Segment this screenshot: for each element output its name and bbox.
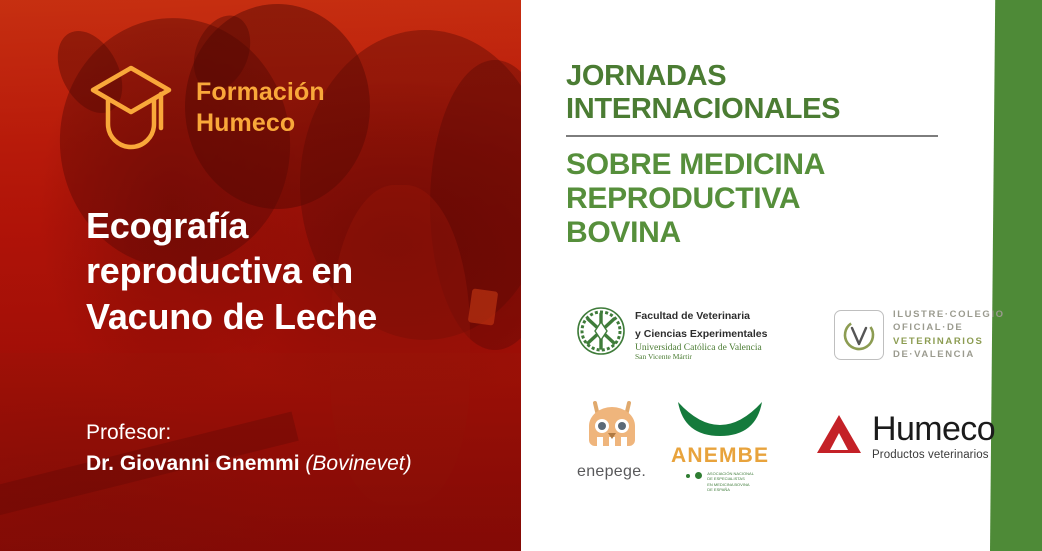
professor-block: Profesor: Dr. Giovanni Gnemmi (Bovinevet… xyxy=(86,418,516,479)
right-white-panel: JORNADAS INTERNACIONALES SOBRE MEDICINA … xyxy=(521,0,1042,551)
professor-label: Profesor: xyxy=(86,418,516,449)
humeco-name: Humeco xyxy=(872,412,995,448)
ucv-crest-icon xyxy=(576,306,626,361)
professor-name: Dr. Giovanni Gnemmi xyxy=(86,452,300,475)
brand-label: Formación Humeco xyxy=(196,77,325,139)
event-heading-bottom: SOBRE MEDICINA REPRODUCTIVA BOVINA xyxy=(566,148,966,251)
ucv-campus-name: San Vicente Mártir xyxy=(635,353,768,361)
enepege-mascot-icon xyxy=(581,400,643,461)
professor-organization: (Bovinevet) xyxy=(305,452,411,475)
heading-divider-rule xyxy=(566,135,938,137)
logo-enepege: enepege. xyxy=(577,400,646,481)
anembe-subtitle: ASOCIACIÓN NACIONAL DE ESPECIALISTAS EN … xyxy=(707,471,754,493)
ucv-faculty-name: Facultad de Veterinaria y Ciencias Exper… xyxy=(635,310,768,340)
humeco-tagline: Productos veterinarios xyxy=(872,449,995,461)
left-red-panel: Formación Humeco Ecografía reproductiva … xyxy=(0,0,521,551)
enepege-name: enepege. xyxy=(577,463,646,481)
logo-humeco: Humeco Productos veterinarios xyxy=(816,412,995,461)
colegio-line-4: DE·VALENCIA xyxy=(893,348,1005,361)
anembe-arc-icon xyxy=(674,398,766,445)
poster-banner: Formación Humeco Ecografía reproductiva … xyxy=(0,0,1042,551)
course-title: Ecografía reproductiva en Vacuno de Lech… xyxy=(86,203,506,339)
event-heading: JORNADAS INTERNACIONALES SOBRE MEDICINA … xyxy=(566,60,966,250)
logo-anembe: ANEMBE ASOCIACIÓN NACIONAL DE ESPECIALIS… xyxy=(671,398,769,493)
humeco-triangle-icon xyxy=(816,413,862,460)
event-heading-top: JORNADAS INTERNACIONALES xyxy=(566,60,966,126)
logo-row-institutions: Facultad de Veterinaria y Ciencias Exper… xyxy=(566,300,1011,380)
anembe-name: ANEMBE xyxy=(671,445,769,466)
logo-colegio-veterinarios: ILUSTRE·COLEGIO OFICIAL·DE VETERINARIOS … xyxy=(834,308,1005,362)
anembe-dots-icon xyxy=(686,472,702,479)
logo-row-partners: enepege. ANEMBE ASOCIACIÓN NACIONAL DE E… xyxy=(561,398,1016,494)
brand-lockup: Formación Humeco xyxy=(88,62,325,154)
graduation-cap-icon xyxy=(88,62,174,154)
logo-ucv-veterinaria: Facultad de Veterinaria y Ciencias Exper… xyxy=(576,306,768,362)
colegio-line-2: OFICIAL·DE xyxy=(893,321,1005,334)
colegio-veterinarios-icon xyxy=(834,310,884,360)
colegio-line-3: VETERINARIOS xyxy=(893,335,1005,348)
colegio-line-1: ILUSTRE·COLEGIO xyxy=(893,308,1005,321)
